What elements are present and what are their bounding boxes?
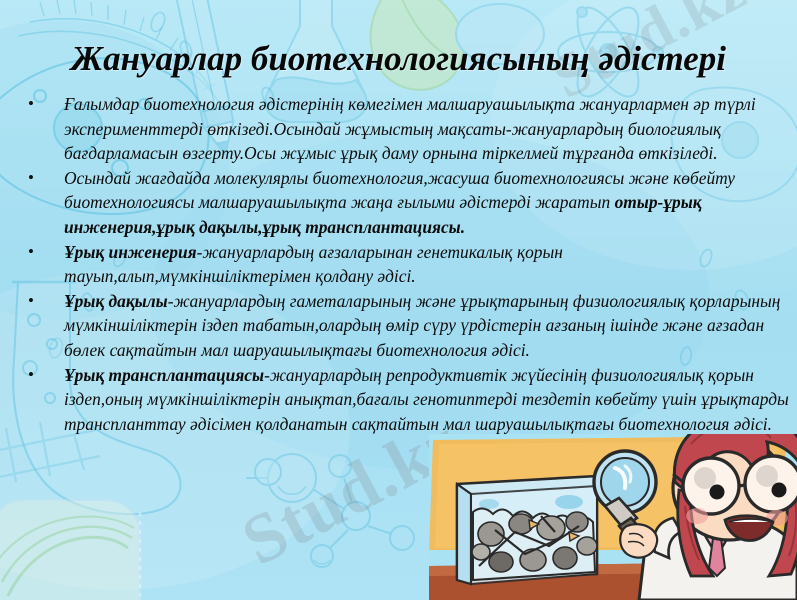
slide-title: Жануарлар биотехнологиясының әдістері (0, 38, 797, 80)
list-item: • Ұрық трансплантациясы-жануарлардың реп… (0, 363, 797, 437)
bullet-1-body: Ғалымдар биотехнология әдістерінің көмег… (64, 94, 756, 163)
bullet-marker: • (18, 92, 64, 117)
list-item: • Ұрық инженерия-жануарлардың ағзаларына… (0, 240, 797, 289)
bullet-3-term: Ұрық инженерия (64, 242, 197, 262)
bullet-list: • Ғалымдар биотехнология әдістерінің көм… (0, 92, 797, 436)
bullet-4-body: -жануарлардың гаметаларының және ұрықтар… (64, 291, 780, 360)
bullet-4-term: Ұрық дақылы (64, 291, 168, 311)
bullet-4-text: Ұрық дақылы-жануарлардың гаметаларының ж… (64, 289, 789, 363)
bullet-marker: • (18, 240, 64, 265)
bullet-5-text: Ұрық трансплантациясы-жануарлардың репро… (64, 363, 789, 437)
bullet-3-text: Ұрық инженерия-жануарлардың ағзаларынан … (64, 240, 789, 289)
slide-canvas: Stud.kz Stud.kz Stud.kz Жануарлар биотех… (0, 0, 797, 600)
bullet-2-text: Осындай жағдайда молекулярлы биотехнолог… (64, 166, 789, 240)
bullet-marker: • (18, 289, 64, 314)
list-item: • Ғалымдар биотехнология әдістерінің көм… (0, 92, 797, 166)
bullet-1-text: Ғалымдар биотехнология әдістерінің көмег… (64, 92, 789, 166)
bullet-marker: • (18, 363, 64, 388)
list-item: • Осындай жағдайда молекулярлы биотехнол… (0, 166, 797, 240)
list-item: • Ұрық дақылы-жануарлардың гаметаларының… (0, 289, 797, 363)
bullet-marker: • (18, 166, 64, 191)
bullet-5-term: Ұрық трансплантациясы (64, 365, 264, 385)
illustration-scientist (429, 434, 797, 600)
